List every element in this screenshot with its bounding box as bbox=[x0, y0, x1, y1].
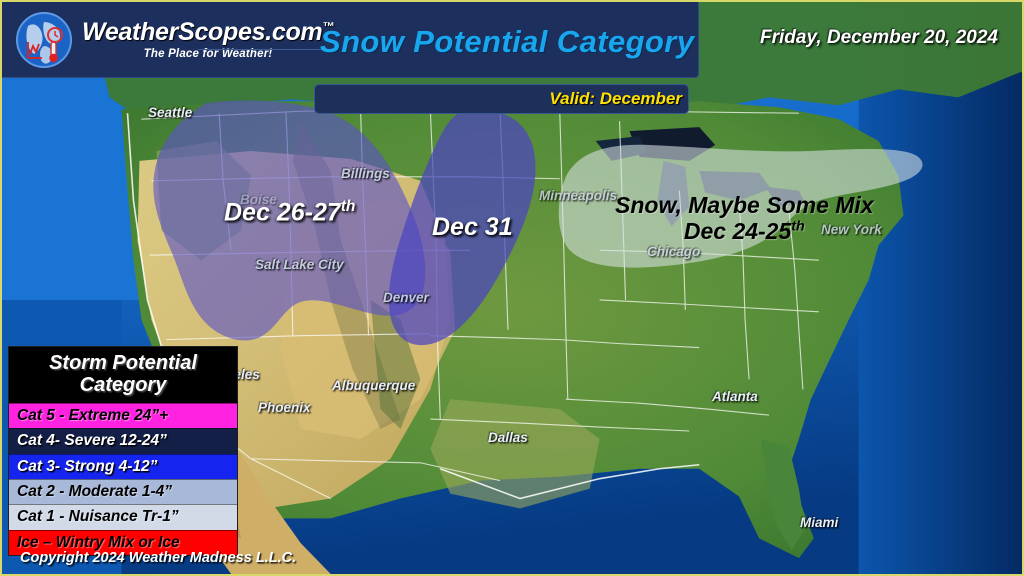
header-divider-rule bbox=[198, 49, 338, 50]
legend-panel: Storm Potential Category Cat 5 - Extreme… bbox=[8, 346, 238, 556]
forecast-date: Friday, December 20, 2024 bbox=[760, 27, 998, 49]
brand-text: WeatherScopes.com™ The Place for Weather… bbox=[82, 19, 334, 59]
legend-title-line2: Category bbox=[13, 374, 233, 396]
weather-map-screenshot: Seattle Billings Boise Salt Lake City De… bbox=[0, 0, 1024, 576]
globe-weather-icon bbox=[14, 10, 74, 70]
brand-name: WeatherScopes.com™ bbox=[82, 19, 334, 45]
brand-name-text: WeatherScopes.com bbox=[82, 18, 322, 46]
page-title: Snow Potential Category bbox=[320, 24, 694, 60]
valid-text: Valid: December bbox=[549, 89, 682, 109]
legend-row-cat2: Cat 2 - Moderate 1-4” bbox=[9, 479, 237, 504]
legend-row-cat3: Cat 3- Strong 4-12” bbox=[9, 454, 237, 479]
valid-bar: Valid: December bbox=[314, 84, 689, 114]
legend-row-cat4: Cat 4- Severe 12-24” bbox=[9, 428, 237, 453]
copyright-notice: Copyright 2024 Weather Madness L.L.C. bbox=[20, 550, 296, 566]
legend-row-cat5: Cat 5 - Extreme 24”+ bbox=[9, 403, 237, 428]
legend-title-line1: Storm Potential bbox=[13, 352, 233, 374]
legend-row-cat1: Cat 1 - Nuisance Tr-1” bbox=[9, 504, 237, 529]
legend-title: Storm Potential Category bbox=[9, 347, 237, 403]
